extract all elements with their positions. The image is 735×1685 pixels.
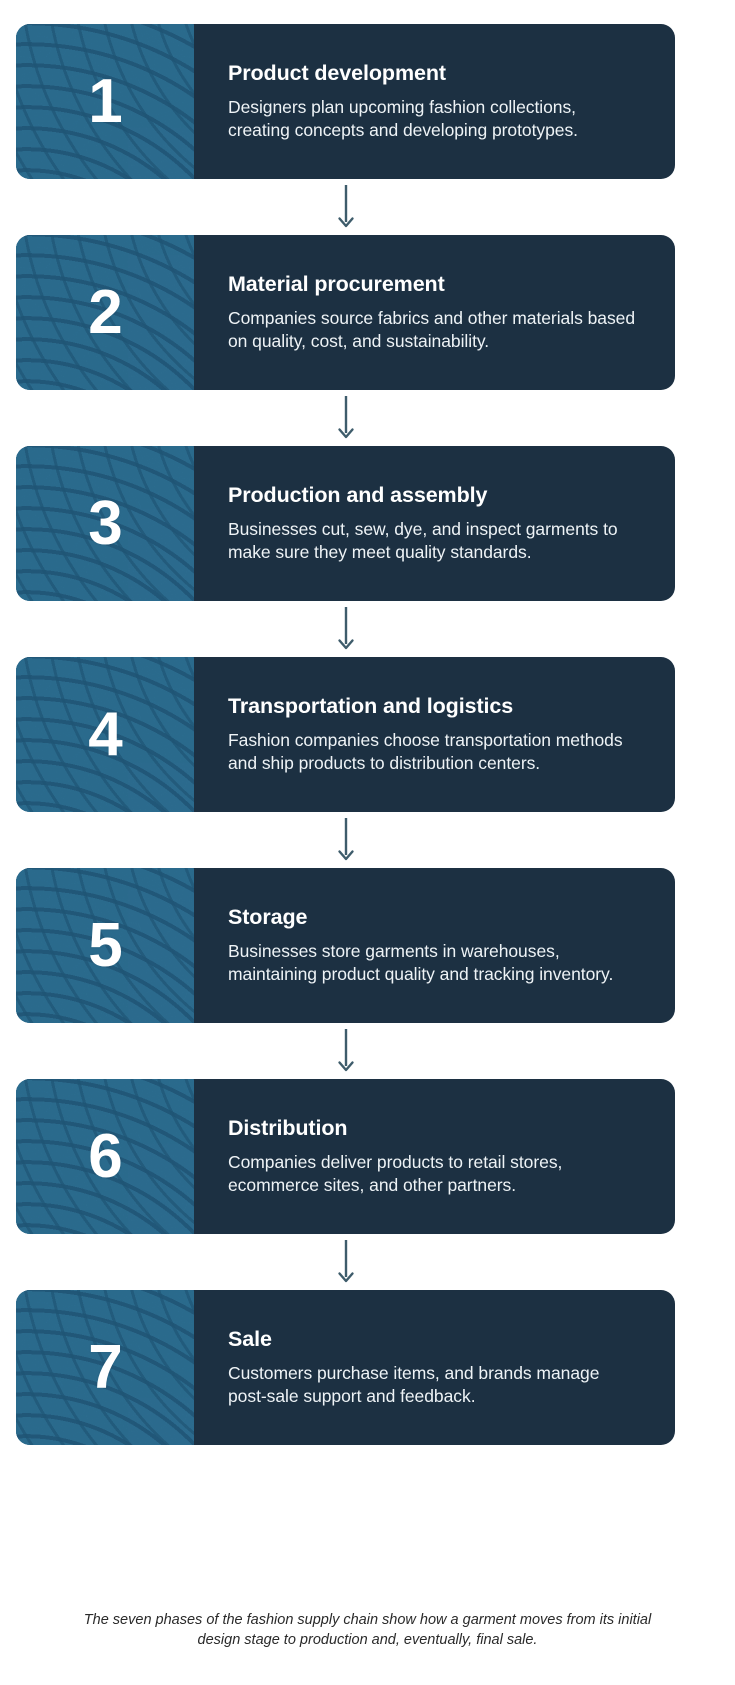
step-body-1: Product development Designers plan upcom… (194, 24, 675, 179)
step-card-1: 1 Product development Designers plan upc… (16, 24, 675, 179)
step-body-2: Material procurement Companies source fa… (194, 235, 675, 390)
step-number-5: 5 (88, 915, 121, 977)
step-body-5: Storage Businesses store garments in war… (194, 868, 675, 1023)
step-card-4: 4 Transportation and logistics Fashion c… (16, 657, 675, 812)
step-description-2: Companies source fabrics and other mater… (228, 307, 641, 353)
step-card-3: 3 Production and assembly Businesses cut… (16, 446, 675, 601)
step-card-2: 2 Material procurement Companies source … (16, 235, 675, 390)
step-description-1: Designers plan upcoming fashion collecti… (228, 96, 641, 142)
step-card-7: 7 Sale Customers purchase items, and bra… (16, 1290, 675, 1445)
step-number-7: 7 (88, 1337, 121, 1399)
step-number-4: 4 (88, 704, 121, 766)
step-number-3: 3 (88, 493, 121, 555)
step-description-6: Companies deliver products to retail sto… (228, 1151, 641, 1197)
step-body-4: Transportation and logistics Fashion com… (194, 657, 675, 812)
supply-chain-infographic: 1 Product development Designers plan upc… (0, 0, 735, 1685)
step-number-panel-4: 4 (16, 657, 194, 812)
connector-arrow-2-to-3 (16, 390, 719, 446)
connector-arrow-3-to-4 (16, 601, 719, 657)
step-number-panel-1: 1 (16, 24, 194, 179)
caption-wrapper: The seven phases of the fashion supply c… (16, 1610, 719, 1685)
step-title-5: Storage (228, 905, 641, 931)
step-description-5: Businesses store garments in warehouses,… (228, 940, 641, 986)
down-arrow-icon (335, 1029, 357, 1073)
step-number-panel-6: 6 (16, 1079, 194, 1234)
step-body-3: Production and assembly Businesses cut, … (194, 446, 675, 601)
step-number-2: 2 (88, 282, 121, 344)
step-title-6: Distribution (228, 1116, 641, 1142)
step-title-3: Production and assembly (228, 483, 641, 509)
step-number-6: 6 (88, 1126, 121, 1188)
down-arrow-icon (335, 185, 357, 229)
step-title-4: Transportation and logistics (228, 694, 641, 720)
step-number-panel-5: 5 (16, 868, 194, 1023)
down-arrow-icon (335, 396, 357, 440)
connector-arrow-1-to-2 (16, 179, 719, 235)
connector-arrow-5-to-6 (16, 1023, 719, 1079)
step-body-6: Distribution Companies deliver products … (194, 1079, 675, 1234)
infographic-caption: The seven phases of the fashion supply c… (62, 1610, 673, 1651)
down-arrow-icon (335, 1240, 357, 1284)
step-title-7: Sale (228, 1327, 641, 1353)
down-arrow-icon (335, 607, 357, 651)
step-number-1: 1 (88, 71, 121, 133)
step-description-7: Customers purchase items, and brands man… (228, 1362, 641, 1408)
step-card-6: 6 Distribution Companies deliver product… (16, 1079, 675, 1234)
step-title-1: Product development (228, 61, 641, 87)
down-arrow-icon (335, 818, 357, 862)
step-title-2: Material procurement (228, 272, 641, 298)
step-body-7: Sale Customers purchase items, and brand… (194, 1290, 675, 1445)
step-card-5: 5 Storage Businesses store garments in w… (16, 868, 675, 1023)
step-description-4: Fashion companies choose transportation … (228, 729, 641, 775)
step-number-panel-7: 7 (16, 1290, 194, 1445)
connector-arrow-6-to-7 (16, 1234, 719, 1290)
step-number-panel-3: 3 (16, 446, 194, 601)
connector-arrow-4-to-5 (16, 812, 719, 868)
step-number-panel-2: 2 (16, 235, 194, 390)
step-description-3: Businesses cut, sew, dye, and inspect ga… (228, 518, 641, 564)
